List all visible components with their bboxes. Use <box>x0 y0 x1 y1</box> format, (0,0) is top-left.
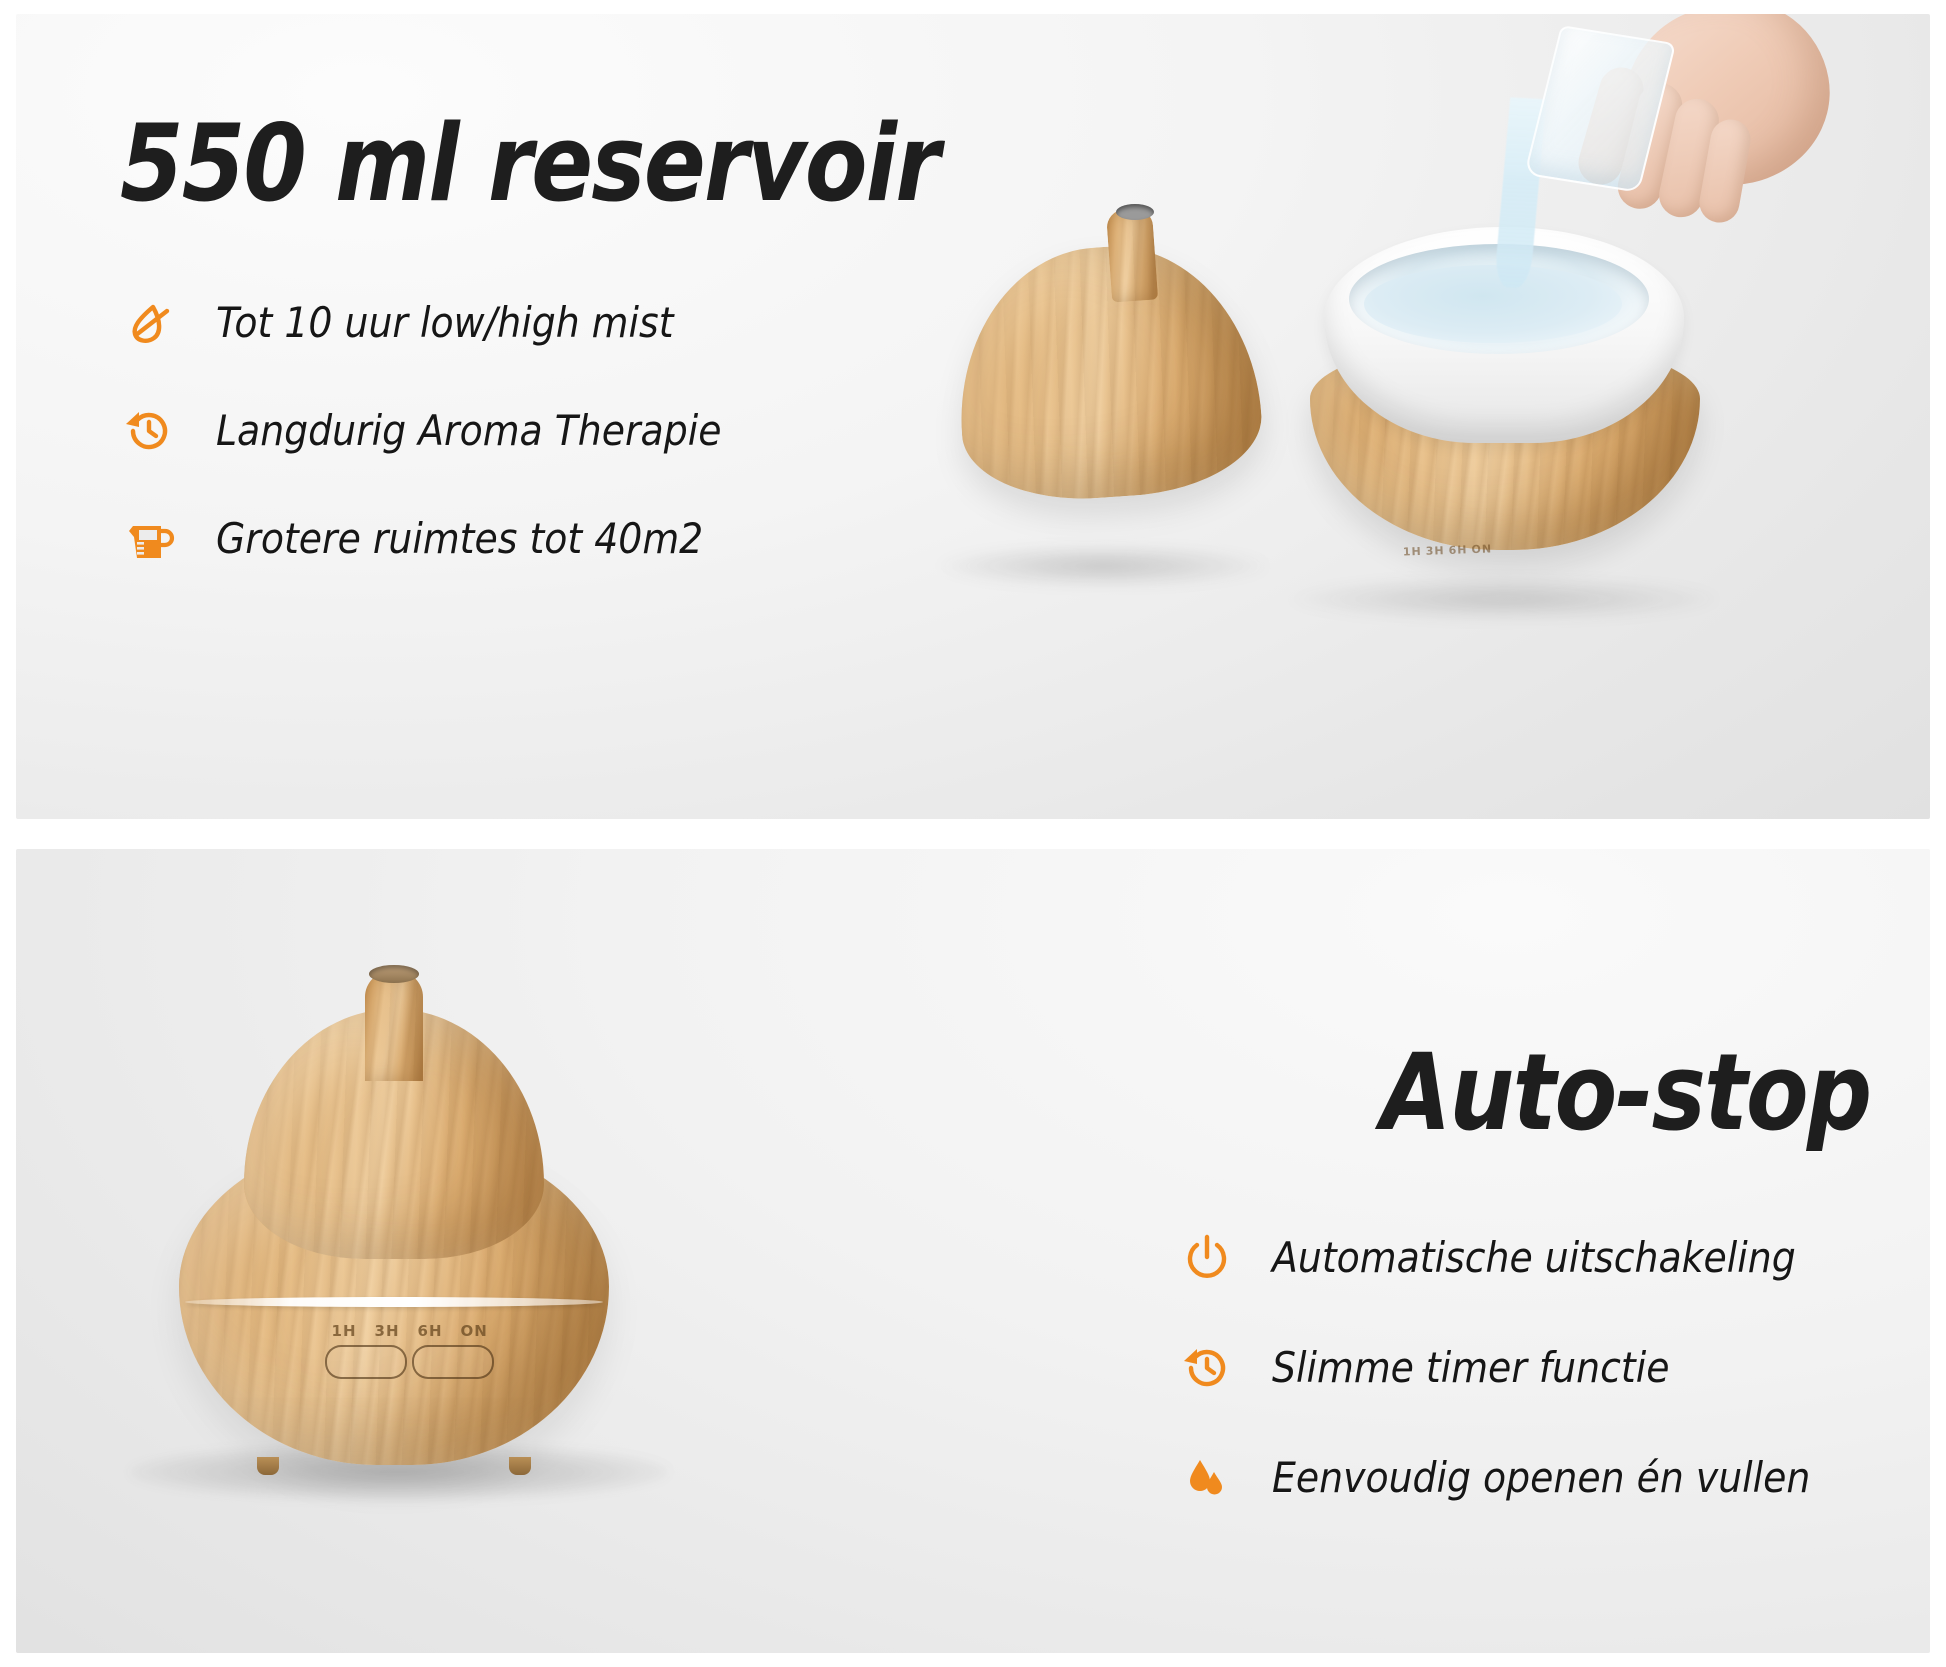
control-panel-labels: 1H 3H 6H ON <box>332 1322 488 1340</box>
pouring-water-stream <box>1494 98 1547 289</box>
autostop-text-column: Auto-stop Automatische uitschakeling <box>820 849 1930 1654</box>
measuring-cup <box>1524 25 1676 193</box>
list-item: Grotere ruimtes tot 40m2 <box>120 510 1088 568</box>
feature-label: Tot 10 uur low/high mist <box>216 300 674 346</box>
feature-label: Grotere ruimtes tot 40m2 <box>216 516 703 562</box>
diffuser-body <box>179 1135 609 1465</box>
panel-autostop: 1H 3H 6H ON Auto-stop <box>16 849 1930 1654</box>
control-label-1h: 1H <box>332 1322 357 1340</box>
finger <box>1573 63 1648 190</box>
diffuser-base-open <box>1310 340 1700 550</box>
control-label-1h: 1H <box>1403 545 1422 559</box>
list-item: Eenvoudig openen én vullen <box>1178 1449 1870 1507</box>
diffuser-drop-shadow <box>129 1443 669 1501</box>
panel-reservoir: 1H 3H 6H ON 550 ml reservoir <box>16 14 1930 819</box>
control-label-6h: 6H <box>1448 543 1467 557</box>
diffuser-foot <box>509 1457 531 1475</box>
measuring-jug-icon <box>120 510 178 568</box>
diffuser-water-tank <box>1324 227 1684 443</box>
control-label-3h: 3H <box>1425 544 1444 558</box>
leaf-icon <box>120 294 178 352</box>
feature-label: Eenvoudig openen én vullen <box>1272 1455 1810 1501</box>
clock-timer-icon <box>120 402 178 460</box>
diffuser-neck <box>365 971 423 1081</box>
finger <box>1655 95 1723 222</box>
diffuser-foot <box>257 1457 279 1475</box>
control-panel-buttons <box>325 1345 494 1379</box>
control-label-on: ON <box>461 1322 488 1340</box>
page-title-autostop: Auto-stop <box>1380 1039 1870 1147</box>
feature-label: Automatische uitschakeling <box>1272 1235 1796 1281</box>
list-item: Tot 10 uur low/high mist <box>120 294 1088 352</box>
list-item: Langdurig Aroma Therapie <box>120 402 1088 460</box>
feature-label: Slimme timer functie <box>1272 1345 1669 1391</box>
diffuser-seam-line <box>185 1297 603 1307</box>
finger <box>1696 116 1753 225</box>
control-label-3h: 3H <box>375 1322 400 1340</box>
mist-button[interactable] <box>325 1345 407 1379</box>
control-panel-top: 1H 3H 6H ON <box>1371 514 1522 559</box>
diffuser-cap-neck <box>1106 207 1158 302</box>
base-drop-shadow <box>1289 577 1719 621</box>
power-icon <box>1178 1229 1236 1287</box>
control-label-on: ON <box>1471 542 1492 556</box>
feature-label: Langdurig Aroma Therapie <box>216 408 721 454</box>
diffuser-mist-outlet <box>369 965 419 983</box>
feature-list-autostop: Automatische uitschakeling Slimme timer … <box>1178 1229 1870 1559</box>
reservoir-text-column: 550 ml reservoir Tot 10 uur low/high mis… <box>16 14 1088 819</box>
water-in-tank <box>1364 265 1622 343</box>
list-item: Automatische uitschakeling <box>1178 1229 1870 1287</box>
page-title-reservoir: 550 ml reservoir <box>120 110 952 218</box>
light-button[interactable] <box>412 1345 494 1379</box>
feature-list-reservoir: Tot 10 uur low/high mist Langdurig Aroma… <box>120 294 1088 618</box>
diffuser-mist-outlet <box>1116 204 1154 220</box>
control-label-6h: 6H <box>418 1322 443 1340</box>
control-panel-bottom: 1H 3H 6H ON <box>321 1322 499 1379</box>
water-drop-icon <box>1178 1449 1236 1507</box>
product-feature-page: 1H 3H 6H ON 550 ml reservoir <box>0 0 1946 1667</box>
diffuser-tank-rim <box>1349 244 1649 354</box>
clock-timer-icon <box>1178 1339 1236 1397</box>
finger <box>1613 79 1687 214</box>
hand <box>1606 14 1844 203</box>
list-item: Slimme timer functie <box>1178 1339 1870 1397</box>
diffuser-dome <box>244 1009 544 1259</box>
aroma-diffuser: 1H 3H 6H ON <box>179 1009 609 1509</box>
